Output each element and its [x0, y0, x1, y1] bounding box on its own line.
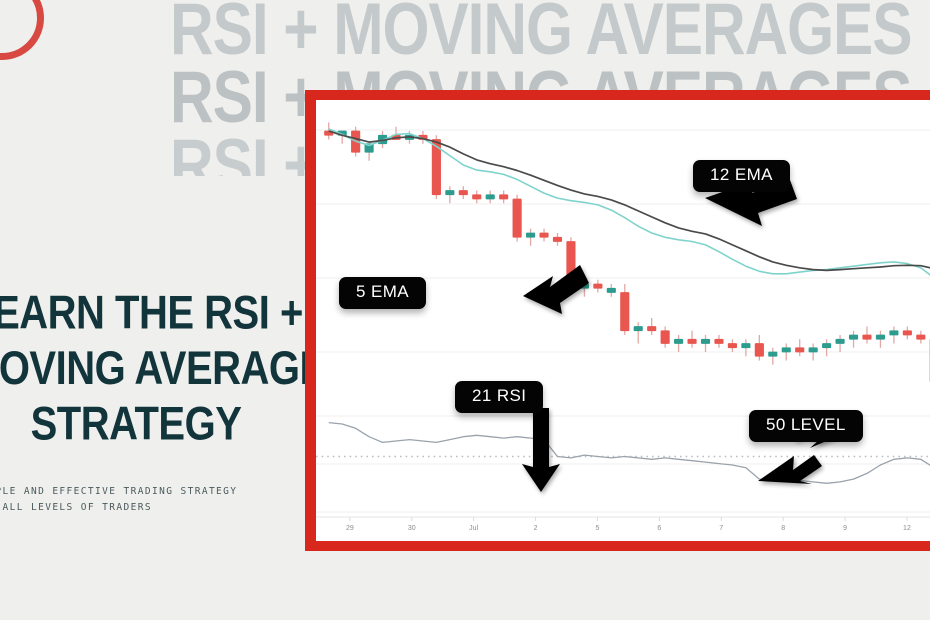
svg-text:2: 2	[534, 525, 538, 532]
poster-canvas: RSI + MOVING AVERAGES RSI + MOVING AVERA…	[0, 0, 930, 620]
page-title: LEARN THE RSI + MOVING AVERAGE STRATEGY	[0, 286, 306, 452]
svg-text:29: 29	[346, 525, 354, 532]
page-subtitle: SIMPLE AND EFFECTIVE TRADING STRATEGY FO…	[0, 484, 294, 516]
callout-50-level[interactable]: 50 LEVEL	[749, 410, 863, 442]
brand-ring-logo	[0, 0, 44, 60]
svg-text:Jul: Jul	[469, 525, 478, 532]
headline-line: LEARN THE RSI +	[0, 286, 306, 341]
subtitle-line: SIMPLE AND EFFECTIVE TRADING STRATEGY	[0, 484, 294, 500]
svg-text:30: 30	[408, 525, 416, 532]
callout-21-rsi[interactable]: 21 RSI	[455, 381, 543, 413]
callout-12-ema[interactable]: 12 EMA	[693, 160, 790, 192]
svg-text:7: 7	[719, 525, 723, 532]
trading-chart: 2930Jul25678912	[316, 100, 930, 541]
svg-text:9: 9	[843, 525, 847, 532]
svg-text:6: 6	[657, 525, 661, 532]
callout-5-ema[interactable]: 5 EMA	[339, 277, 426, 309]
subtitle-line: FOR ALL LEVELS OF TRADERS	[0, 500, 294, 516]
headline-line: STRATEGY	[0, 397, 306, 452]
svg-text:5: 5	[596, 525, 600, 532]
chart-canvas: 2930Jul25678912	[316, 100, 930, 541]
svg-text:12: 12	[903, 525, 911, 532]
chart-frame: 2930Jul25678912	[305, 90, 930, 551]
svg-text:8: 8	[781, 525, 785, 532]
headline-line: MOVING AVERAGE	[0, 341, 306, 396]
